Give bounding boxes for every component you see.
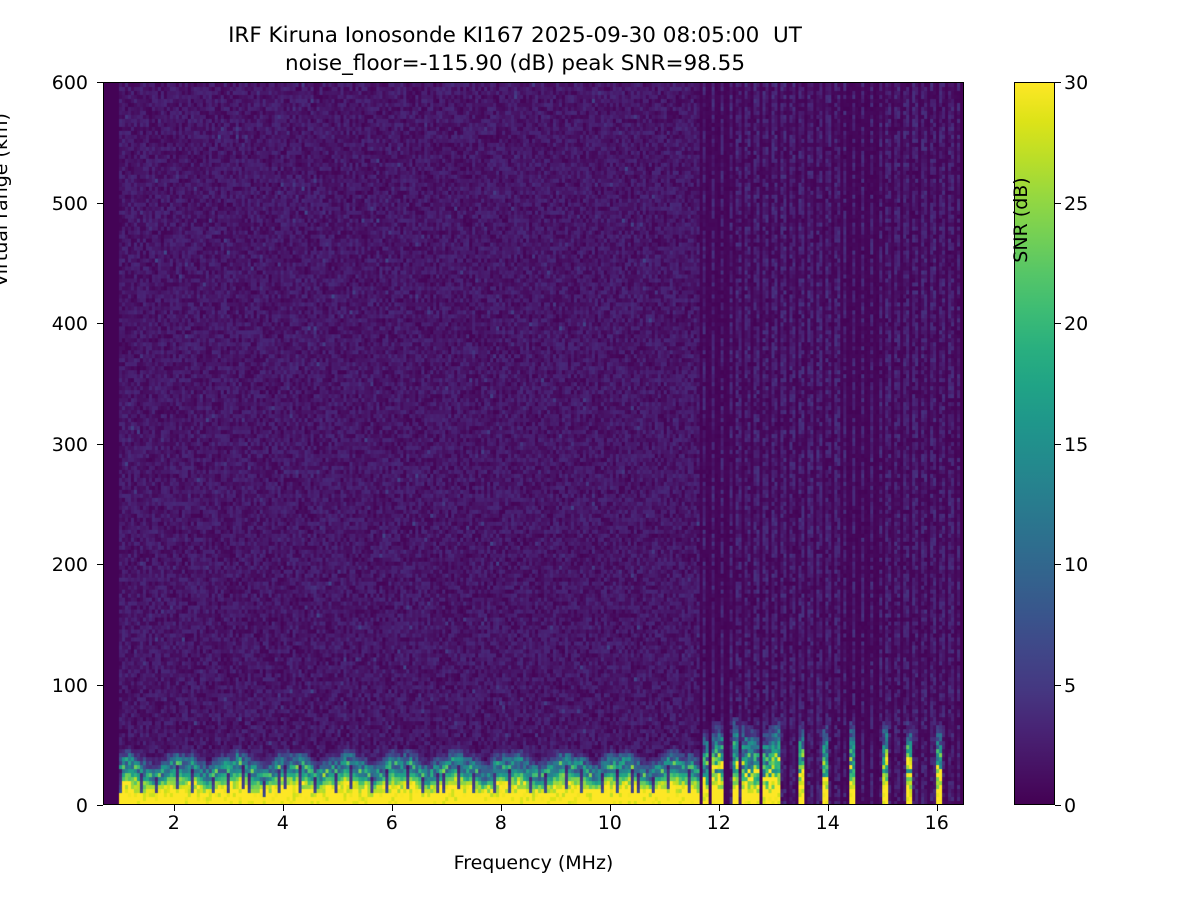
x-tick-label: 10 [580,812,640,834]
ionogram-figure: IRF Kiruna Ionosonde KI167 2025-09-30 08… [0,0,1200,900]
x-tick-mark [392,805,393,811]
x-tick-label: 12 [689,812,749,834]
y-tick-mark [97,203,103,204]
x-tick-mark [719,805,720,811]
colorbar-tick-mark [1055,82,1061,83]
y-tick-label: 300 [0,434,88,456]
x-tick-mark [610,805,611,811]
x-tick-label: 16 [907,812,967,834]
colorbar-label: SNR (dB) [1010,110,1032,330]
heatmap-plot-area [103,82,964,805]
colorbar-tick-label: 10 [1064,554,1134,576]
colorbar-tick-label: 5 [1064,675,1134,697]
x-tick-label: 14 [798,812,858,834]
colorbar-tick-mark [1055,685,1061,686]
y-tick-label: 500 [0,193,88,215]
colorbar-tick-label: 25 [1064,193,1134,215]
y-tick-mark [97,685,103,686]
colorbar-tick-mark [1055,564,1061,565]
x-tick-label: 8 [471,812,531,834]
y-tick-label: 0 [0,795,88,817]
colorbar-tick-label: 15 [1064,434,1134,456]
colorbar-tick-mark [1055,203,1061,204]
x-tick-mark [501,805,502,811]
title-line-1: IRF Kiruna Ionosonde KI167 2025-09-30 08… [0,22,1030,50]
colorbar-tick-mark [1055,323,1061,324]
y-tick-mark [97,323,103,324]
colorbar-tick-label: 0 [1064,795,1134,817]
colorbar-tick-label: 20 [1064,313,1134,335]
y-tick-label: 200 [0,554,88,576]
figure-title: IRF Kiruna Ionosonde KI167 2025-09-30 08… [0,22,1030,78]
y-tick-mark [97,805,103,806]
y-tick-label: 600 [0,72,88,94]
colorbar-tick-mark [1055,444,1061,445]
x-tick-label: 2 [144,812,204,834]
y-tick-label: 400 [0,313,88,335]
y-tick-mark [97,444,103,445]
x-tick-mark [937,805,938,811]
x-tick-label: 4 [253,812,313,834]
y-tick-mark [97,564,103,565]
colorbar-tick-mark [1055,805,1061,806]
x-tick-label: 6 [362,812,422,834]
x-tick-mark [283,805,284,811]
x-tick-mark [174,805,175,811]
y-tick-mark [97,82,103,83]
title-line-2: noise_floor=-115.90 (dB) peak SNR=98.55 [0,50,1030,78]
x-tick-mark [828,805,829,811]
x-axis-label: Frequency (MHz) [103,852,964,874]
ionogram-heatmap-canvas [104,83,963,804]
y-tick-label: 100 [0,675,88,697]
colorbar-tick-label: 30 [1064,72,1134,94]
